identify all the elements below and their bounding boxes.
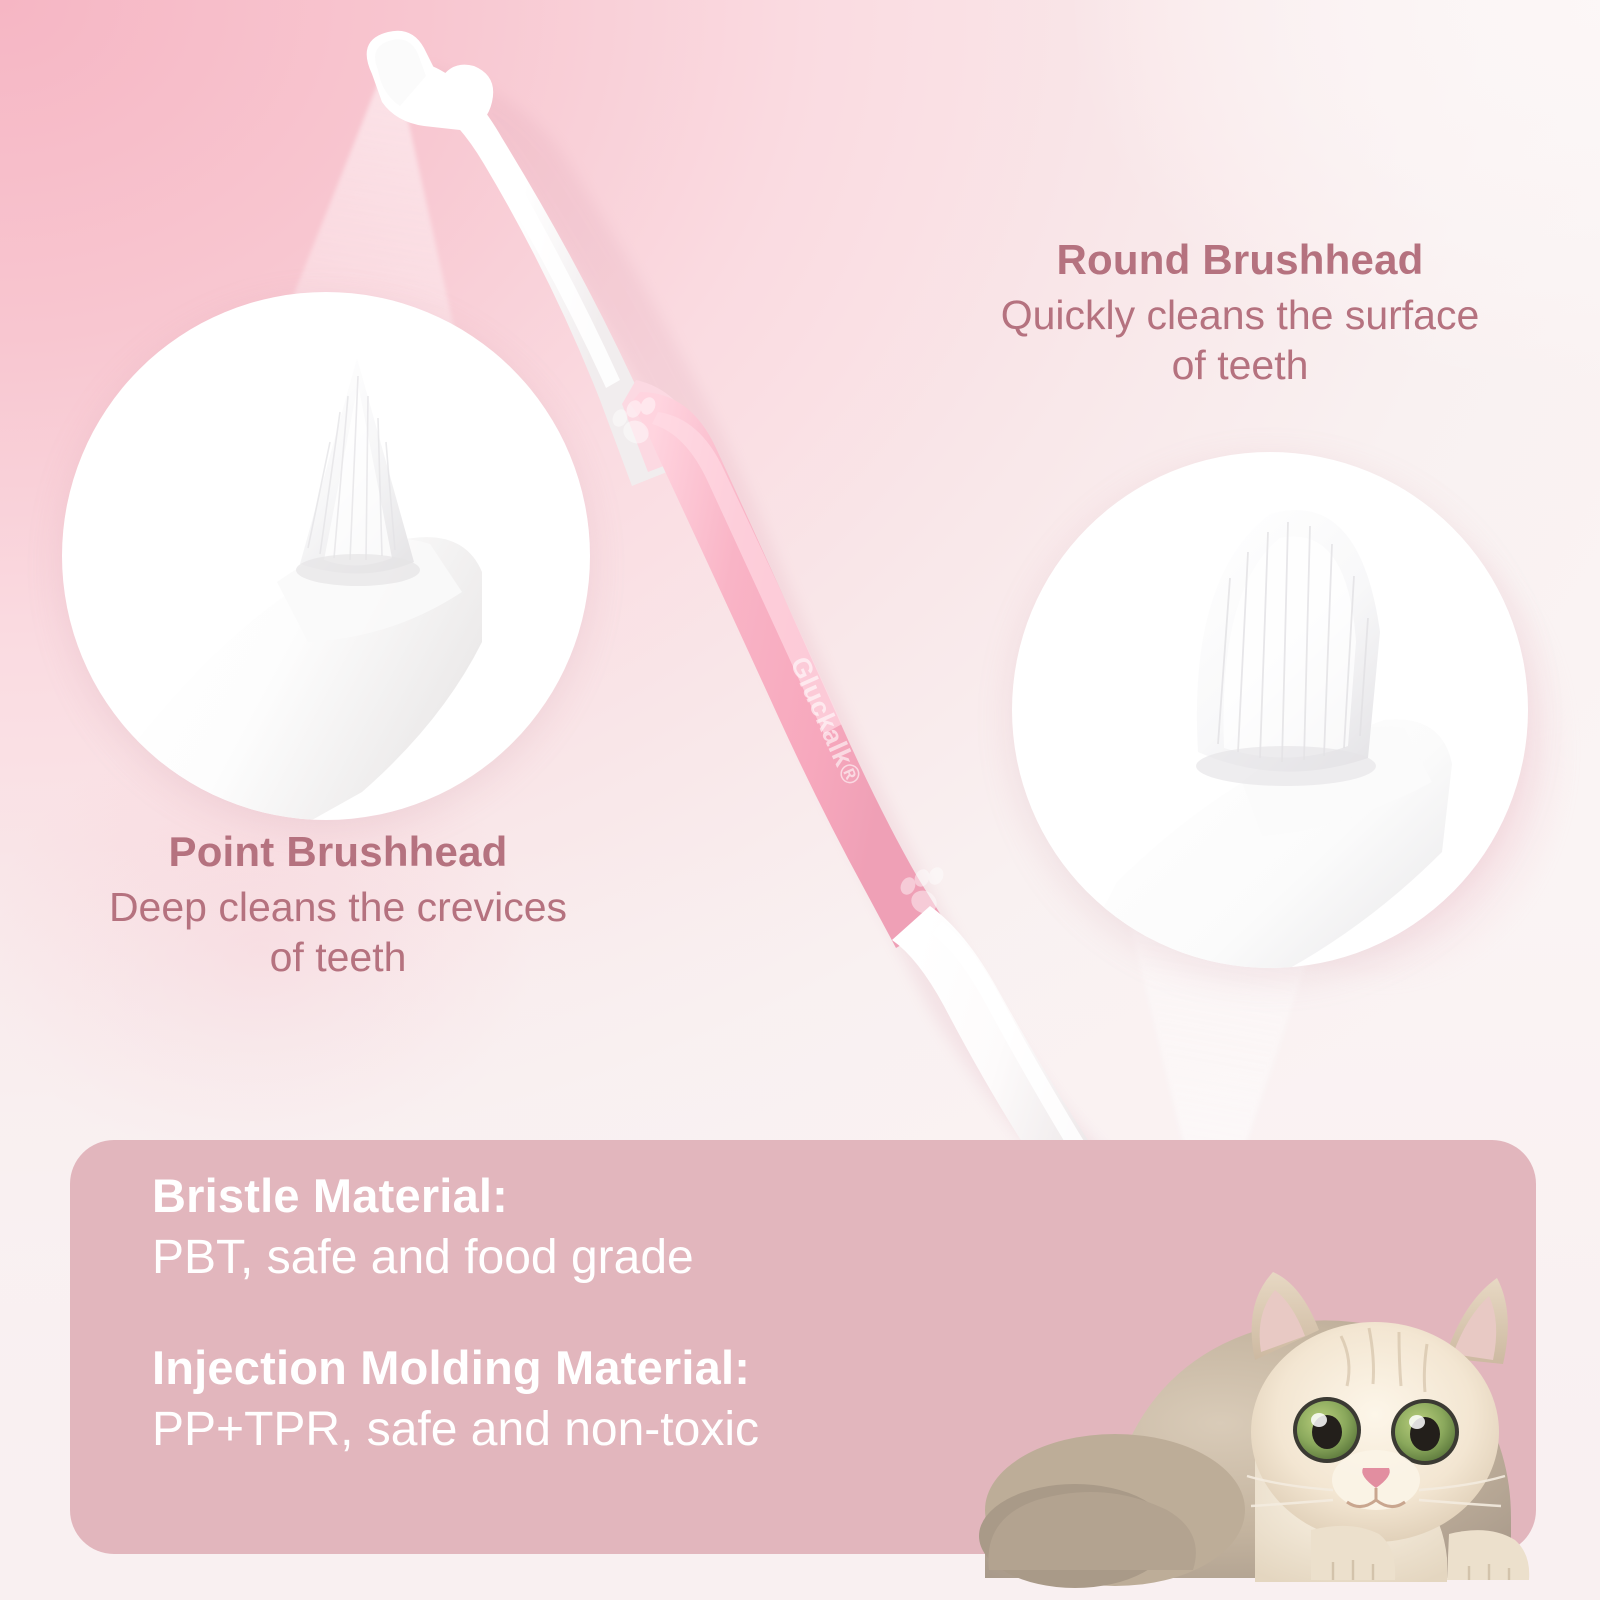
callout-point-desc-line1: Deep cleans the crevices	[28, 882, 648, 932]
callout-point-desc-line2: of teeth	[28, 932, 648, 982]
point-brushhead-inset	[62, 292, 590, 820]
spec-bristle-label: Bristle Material:	[152, 1166, 1212, 1225]
callout-round-desc-line2: of teeth	[930, 340, 1550, 390]
round-brushhead-inset	[1012, 452, 1528, 968]
round-brushhead-closeup-icon	[1012, 452, 1528, 968]
infographic-canvas: Gluckalk® Round Brushhead Quickly cleans…	[0, 0, 1600, 1600]
callout-point-title: Point Brushhead	[28, 828, 648, 876]
callout-point-brushhead: Point Brushhead Deep cleans the crevices…	[28, 828, 648, 982]
callout-round-desc-line1: Quickly cleans the surface	[930, 290, 1550, 340]
callout-round-title: Round Brushhead	[930, 236, 1550, 284]
cat-photo	[955, 1218, 1600, 1600]
point-brushhead-closeup-icon	[62, 292, 590, 820]
callout-round-brushhead: Round Brushhead Quickly cleans the surfa…	[930, 236, 1550, 390]
